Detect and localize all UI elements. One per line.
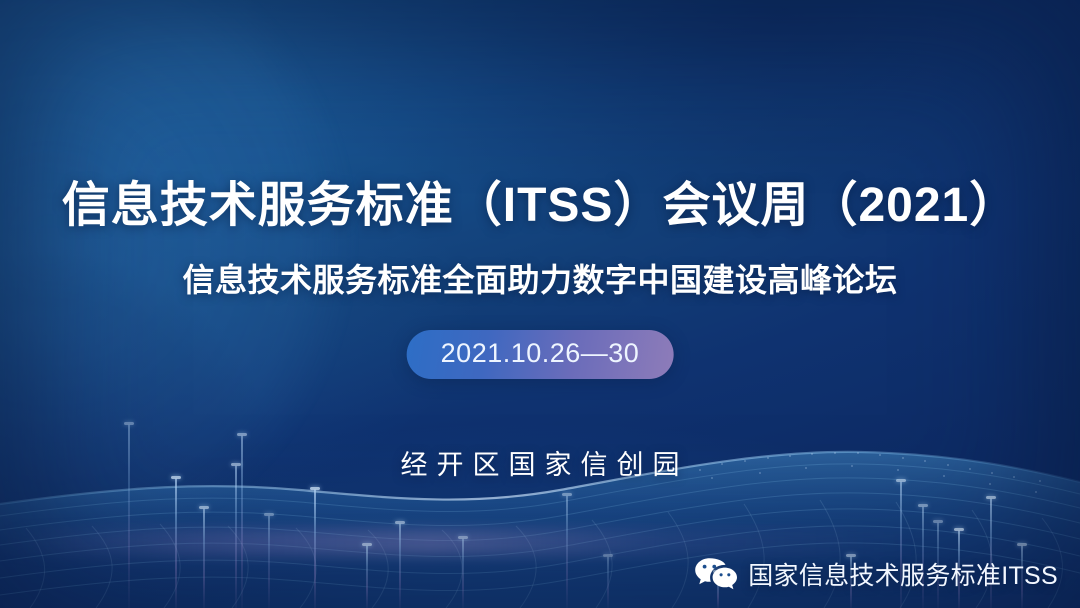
poster-content: 信息技术服务标准（ITSS）会议周（2021） 信息技术服务标准全面助力数字中国… <box>0 0 1080 608</box>
event-poster: 信息技术服务标准（ITSS）会议周（2021） 信息技术服务标准全面助力数字中国… <box>0 0 1080 608</box>
wechat-watermark: 国家信息技术服务标准ITSS <box>694 556 1058 592</box>
page-title: 信息技术服务标准（ITSS）会议周（2021） <box>0 178 1080 233</box>
event-date-badge: 2021.10.26—30 <box>407 330 674 379</box>
event-venue: 经开区国家信创园 <box>0 443 1080 482</box>
page-subtitle: 信息技术服务标准全面助力数字中国建设高峰论坛 <box>0 255 1080 301</box>
wechat-account-name: 国家信息技术服务标准ITSS <box>748 556 1058 592</box>
wechat-icon <box>694 557 738 591</box>
